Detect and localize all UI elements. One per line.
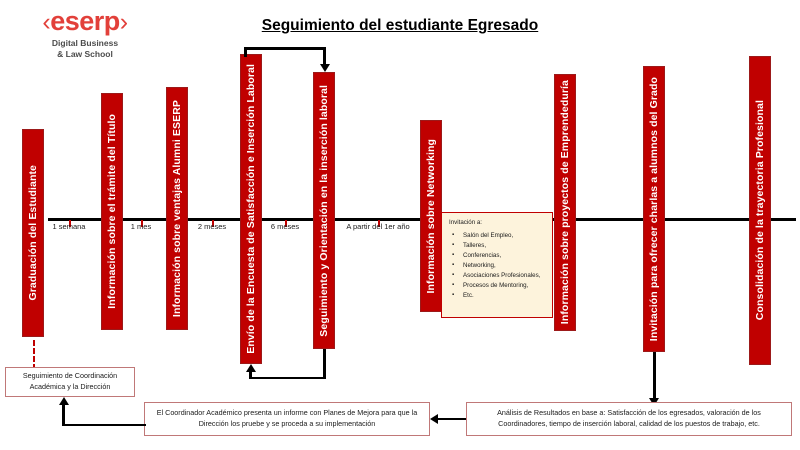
process-box-analisis-resultados[interactable]: Análisis de Resultados en base a: Satisf… [466,402,792,436]
milestone-bar-alumni-eserp[interactable]: Información sobre ventajas Alumni ESERP [166,87,188,330]
list-item: Conferencias, [463,251,546,261]
note-list: Salón del Empleo, Talleres, Conferencias… [449,231,546,301]
milestone-label: Envío de la Encuesta de Satisfacción e I… [246,64,257,354]
timeline-tick-label-1er-anio: A partir del 1er año [346,222,409,231]
logo-tagline-line2: & Law School [10,49,160,60]
milestone-label: Información sobre proyectos de Emprended… [560,80,571,324]
process-box-informe-coordinador[interactable]: El Coordinador Académico presenta un inf… [144,402,430,436]
milestone-label: Información sobre Networking [426,139,437,294]
connector-top-horizontal [244,47,326,50]
connector-dashed-graduacion-coordinacion [33,340,35,370]
list-item: Asociaciones Profesionales, [463,271,546,281]
timeline-tick-label-1-mes: 1 mes [131,222,151,231]
connector-top-left-stub [244,47,247,57]
timeline-tick-label-6-meses: 6 meses [271,222,299,231]
process-box-text: El Coordinador Académico presenta un inf… [150,408,424,430]
milestone-label: Graduación del Estudiante [28,165,39,301]
list-item: Etc. [463,291,546,301]
milestone-bar-charlas-grado[interactable]: Invitación para ofrecer charlas a alumno… [643,66,665,352]
logo-tagline: Digital Business & Law School [10,38,160,59]
arrow-down-icon [320,64,330,72]
milestone-label: Seguimiento y Orientación en la inserció… [319,85,330,337]
connector-loop-left-vertical [249,372,252,379]
timeline-tick-label-2-meses: 2 meses [198,222,226,231]
milestone-bar-graduacion[interactable]: Graduación del Estudiante [22,129,44,337]
page-title: Seguimiento del estudiante Egresado [0,17,800,35]
milestone-bar-tramite-titulo[interactable]: Información sobre el trámite del Título [101,93,123,330]
connector-top-right-stub [323,47,326,65]
connector-loop-right-vertical [323,349,326,379]
connector-loop-horizontal [249,377,325,380]
list-item: Procesos de Mentoring, [463,281,546,291]
arrow-up-icon [59,397,69,405]
milestone-bar-networking[interactable]: Información sobre Networking [420,120,442,312]
milestone-label: Invitación para ofrecer charlas a alumno… [649,77,660,341]
networking-invitation-note: Invitación a: Salón del Empleo, Talleres… [441,212,553,318]
note-heading: Invitación a: [449,219,546,226]
list-item: Networking, [463,261,546,271]
milestone-bar-encuesta-satisfaccion[interactable]: Envío de la Encuesta de Satisfacción e I… [240,54,262,364]
milestone-label: Información sobre el trámite del Título [107,114,118,309]
connector-informe-to-coordinacion-vertical [62,405,65,425]
milestone-bar-emprendeduria[interactable]: Información sobre proyectos de Emprended… [554,74,576,331]
diagram-canvas: ‹eserp› Digital Business & Law School Se… [0,0,800,450]
milestone-label: Consolidación de la trayectoria Profesio… [755,100,766,320]
timeline-tick-label-1-semana: 1 semana [53,222,86,231]
logo-tagline-line1: Digital Business [10,38,160,49]
connector-charlas-to-analisis [653,352,656,401]
process-box-text: Análisis de Resultados en base a: Satisf… [472,408,786,430]
milestone-bar-seguimiento-orientacion[interactable]: Seguimiento y Orientación en la inserció… [313,72,335,349]
arrow-left-icon [430,414,438,424]
connector-informe-to-coordinacion-horizontal [62,424,146,427]
list-item: Talleres, [463,241,546,251]
milestone-label: Información sobre ventajas Alumni ESERP [172,100,183,317]
process-box-coordinacion[interactable]: Seguimiento de Coordinación Académica y … [5,367,135,397]
process-box-text: Seguimiento de Coordinación Académica y … [11,371,129,393]
connector-analisis-to-informe [438,418,466,421]
milestone-bar-trayectoria-profesional[interactable]: Consolidación de la trayectoria Profesio… [749,56,771,365]
arrow-up-icon [246,364,256,372]
list-item: Salón del Empleo, [463,231,546,241]
